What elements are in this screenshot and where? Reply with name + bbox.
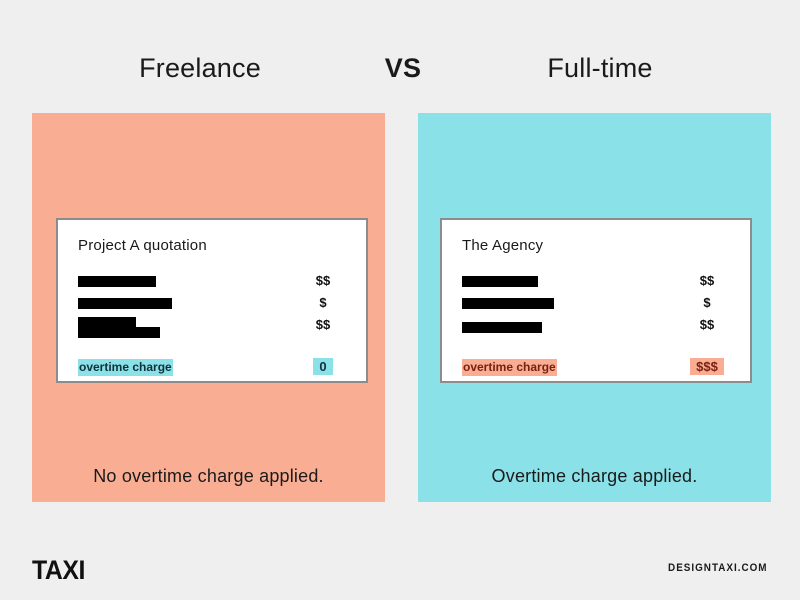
invoice-card-freelance: Project A quotation $$ $ $$ overtime cha… (56, 218, 368, 383)
line-item-row: $ (78, 294, 354, 316)
overtime-price: 0 (292, 358, 354, 376)
overtime-row: overtime charge $$$ (462, 358, 738, 382)
card-title: Project A quotation (78, 237, 207, 254)
heading-freelance: Freelance (0, 50, 400, 86)
line-item-row: $$ (78, 272, 354, 294)
redacted-bar (462, 322, 542, 333)
caption-freelance: No overtime charge applied. (32, 463, 385, 489)
overtime-price: $$$ (676, 358, 738, 376)
line-item-price: $ (292, 294, 354, 312)
overtime-price-value: 0 (313, 358, 332, 375)
caption-fulltime: Overtime charge applied. (418, 463, 771, 489)
overtime-label: overtime charge (462, 359, 557, 376)
taxi-logo: TAXI (32, 555, 85, 586)
overtime-price-value: $$$ (690, 358, 724, 375)
line-item-row: $$ (462, 272, 738, 294)
line-item-price: $$ (292, 316, 354, 334)
redacted-bar (462, 276, 538, 287)
heading-fulltime: Full-time (400, 50, 800, 86)
line-item-list: $$ $ $$ overtime charge $$$ (462, 272, 738, 382)
line-item-price: $ (676, 294, 738, 312)
redacted-bar (462, 298, 554, 309)
line-item-price: $$ (292, 272, 354, 290)
overtime-label: overtime charge (78, 359, 173, 376)
website-url: DESIGNTAXI.COM (669, 562, 768, 574)
redacted-bar (78, 327, 160, 338)
line-item-list: $$ $ $$ overtime charge 0 (78, 272, 354, 382)
line-item-row: $$ (78, 316, 354, 348)
overtime-row: overtime charge 0 (78, 358, 354, 382)
redacted-bar (78, 298, 172, 309)
redacted-bar (78, 276, 156, 287)
infographic-poster: Freelance VS Full-time Project A quotati… (0, 0, 800, 600)
line-item-price: $$ (676, 316, 738, 334)
line-item-row: $ (462, 294, 738, 316)
redacted-bar (78, 317, 136, 327)
line-item-price: $$ (676, 272, 738, 290)
card-title: The Agency (462, 237, 543, 254)
invoice-card-fulltime: The Agency $$ $ $$ overtime charge $$$ (440, 218, 752, 383)
line-item-row: $$ (462, 316, 738, 348)
